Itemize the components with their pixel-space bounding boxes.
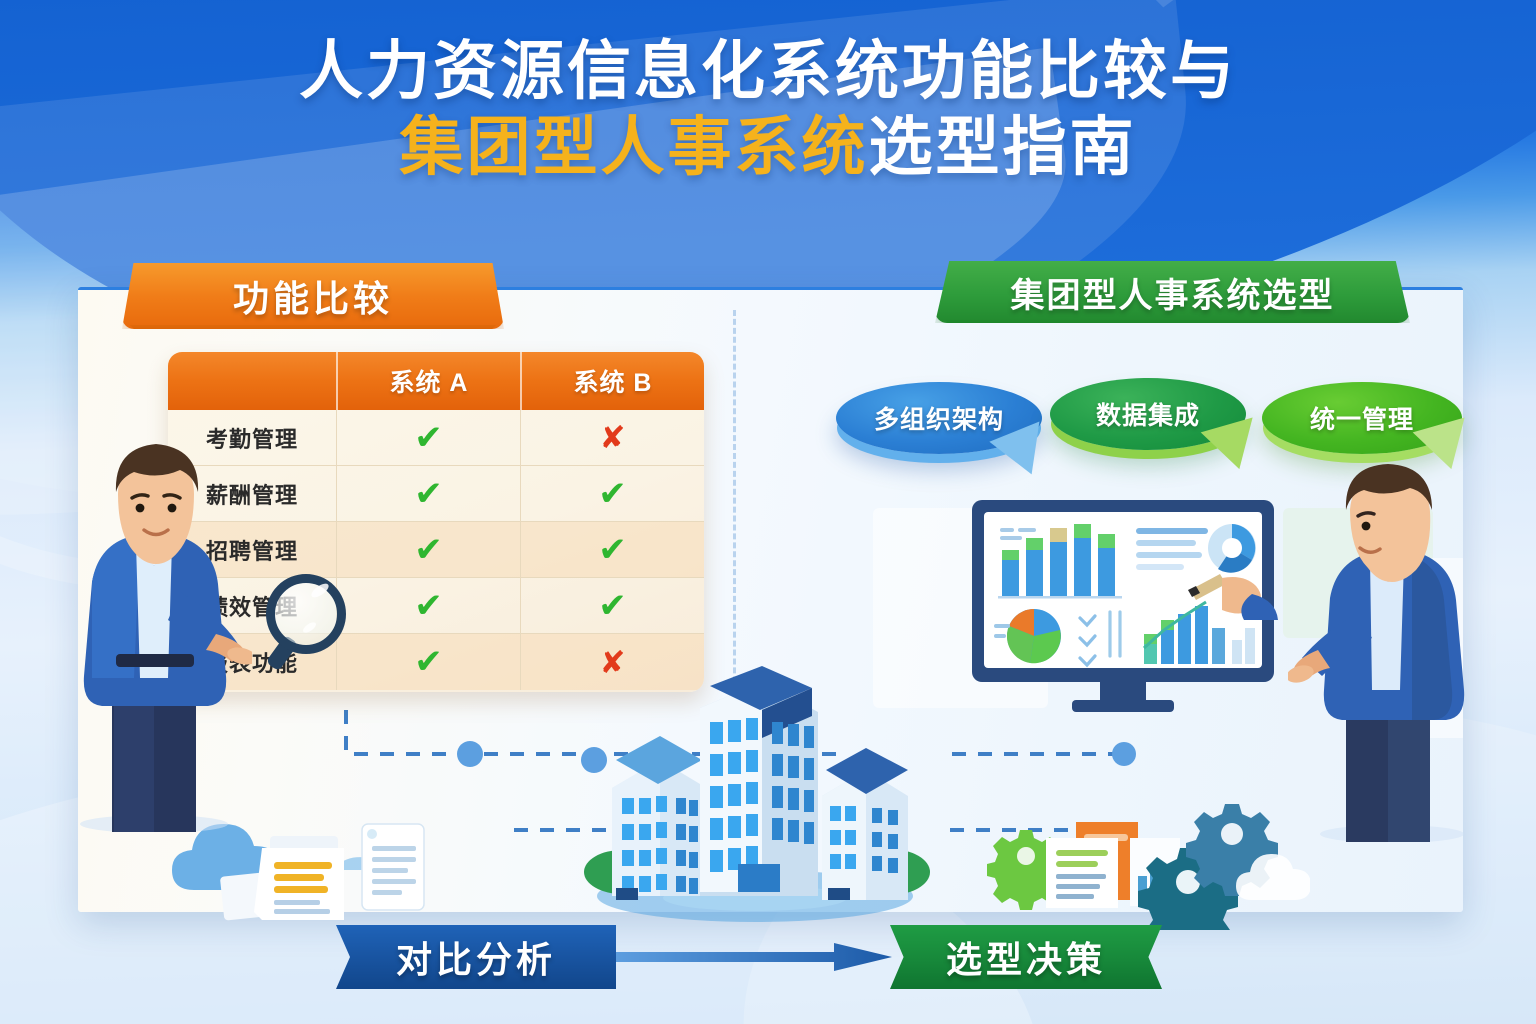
infographic-canvas: 人力资源信息化系统功能比较与 集团型人事系统选型指南 功能比较 集团型人事系统选…	[0, 0, 1536, 1024]
ribbon-right-label: 选型决策	[946, 931, 1106, 983]
ribbon-selection-decision: 选型决策	[890, 925, 1162, 989]
ribbon-comparison-analysis: 对比分析	[336, 925, 616, 989]
documents-gears-illustration	[980, 790, 1310, 930]
cross-icon: ✘	[600, 422, 626, 453]
table-header-system-a: 系统 A	[336, 352, 520, 410]
table-cell-system-b: ✔	[520, 522, 704, 577]
process-step-2-label: 数据集成	[1096, 396, 1200, 432]
process-step-3-label: 统一管理	[1310, 400, 1414, 436]
table-cell-system-a: ✔	[336, 578, 520, 633]
table-cell-system-a: ✔	[336, 410, 520, 465]
process-step-1-label: 多组织架构	[874, 400, 1004, 436]
ribbon-left-label: 对比分析	[396, 931, 556, 983]
check-icon: ✔	[598, 589, 627, 623]
check-icon: ✔	[414, 645, 443, 679]
check-icon: ✔	[414, 421, 443, 455]
banner-left-label: 功能比较	[233, 270, 393, 322]
title-tail: 选型指南	[869, 111, 1137, 183]
page-title: 人力资源信息化系统功能比较与 集团型人事系统选型指南	[0, 34, 1536, 185]
table-header-system-b: 系统 B	[520, 352, 704, 410]
businessman-pointing-illustration	[56, 432, 252, 832]
table-header-row: 系统 A 系统 B	[168, 352, 704, 410]
banner-group-system-selection: 集团型人事系统选型	[935, 261, 1410, 323]
table-cell-system-a: ✔	[336, 634, 520, 690]
table-cell-system-b: ✔	[520, 466, 704, 521]
table-cell-system-b: ✘	[520, 410, 704, 465]
check-icon: ✔	[598, 533, 627, 567]
table-cell-system-a: ✔	[336, 466, 520, 521]
dashboard-monitor	[968, 498, 1278, 718]
table-header-feature	[168, 352, 336, 410]
title-highlight: 集团型人事系统	[400, 111, 869, 183]
connector-node-1	[457, 741, 483, 767]
title-line-2: 集团型人事系统选型指南	[0, 110, 1536, 186]
table-cell-system-b: ✔	[520, 578, 704, 633]
check-icon: ✔	[414, 477, 443, 511]
check-icon: ✔	[414, 533, 443, 567]
businessman-presenting-illustration	[1288, 452, 1484, 842]
connector-node-3	[1112, 742, 1136, 766]
banner-right-label: 集团型人事系统选型	[1011, 268, 1335, 317]
check-icon: ✔	[598, 477, 627, 511]
right-arrow-icon	[612, 943, 892, 971]
check-icon: ✔	[414, 589, 443, 623]
corporate-buildings-illustration	[560, 660, 950, 930]
banner-function-comparison: 功能比较	[122, 263, 504, 329]
table-cell-system-a: ✔	[336, 522, 520, 577]
title-line-1: 人力资源信息化系统功能比较与	[0, 34, 1536, 110]
